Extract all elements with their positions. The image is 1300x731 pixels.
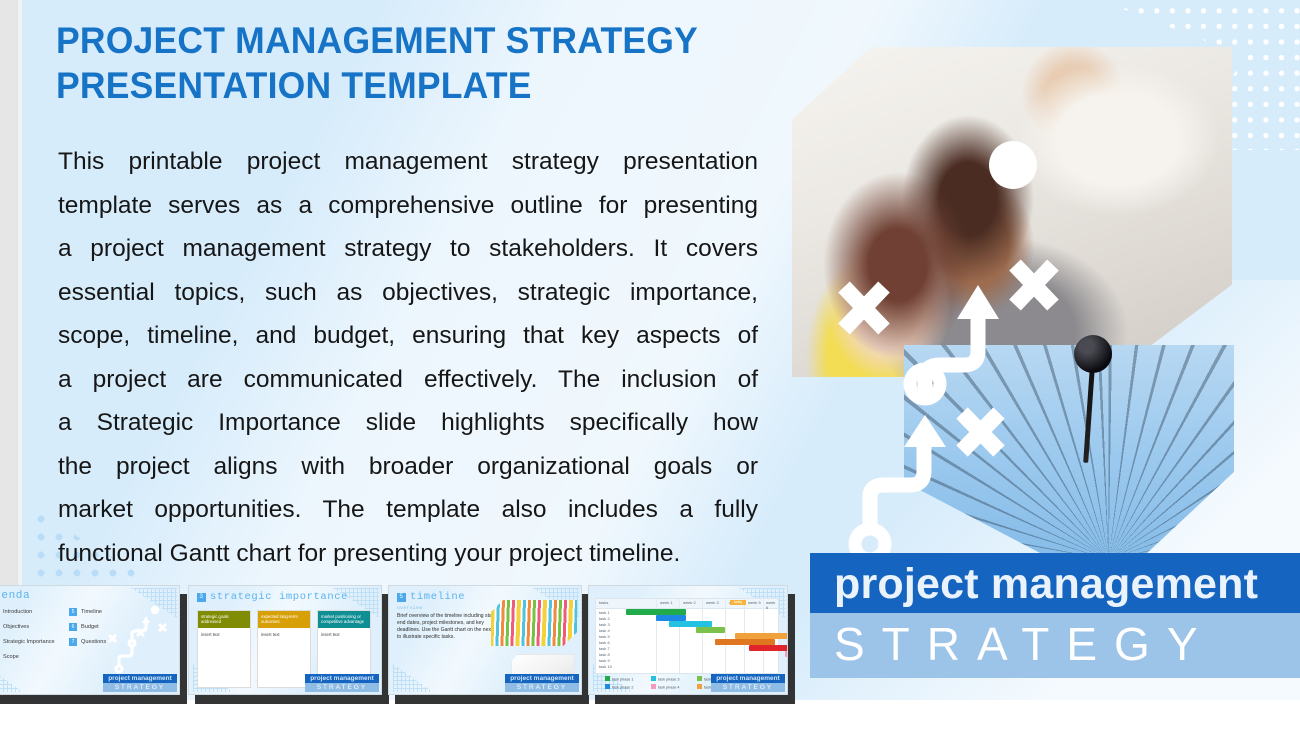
- page-title-line-1: PROJECT MANAGEMENT STRATEGY: [56, 18, 766, 63]
- thumb-title-row: 3strategic importance: [197, 591, 348, 603]
- thumb-logo-line-2: STRATEGY: [711, 683, 785, 692]
- gantt-column-week-3: week 3: [706, 600, 719, 605]
- thumb-logo-line-1: project management: [711, 674, 785, 683]
- legend-label: task phase 3: [658, 678, 680, 682]
- legend-swatch: [651, 676, 656, 681]
- gantt-row-label-8: task 8: [599, 652, 610, 657]
- gantt-gridline: [725, 599, 726, 673]
- strategy-path-overlay-icon: [792, 47, 1232, 587]
- description-paragraph: This printable project management strate…: [58, 140, 758, 575]
- sticky-notes-photo: [491, 600, 577, 646]
- thumb-title: strategic importance: [210, 591, 348, 603]
- legend-swatch: [651, 684, 656, 689]
- agenda-num-7: 7: [69, 638, 77, 646]
- thumb-logo-line-2: STRATEGY: [305, 683, 379, 692]
- thumbnail-gantt-chart[interactable]: tasks week 1 week 2 week 3 week 4 week 5…: [588, 585, 788, 695]
- gantt-chart: tasks week 1 week 2 week 3 week 4 week 5…: [595, 598, 779, 674]
- gantt-today-label: today: [730, 600, 746, 605]
- gantt-legend-1: task phase 1: [605, 676, 634, 682]
- agenda-num-6: 6: [69, 623, 77, 631]
- si-card-2-heading: expected long-term outcomes: [258, 611, 310, 625]
- agenda-label-1: Introduction: [3, 609, 32, 615]
- thumb-logo-line-1: project management: [305, 674, 379, 683]
- agenda-label-7: Questions: [81, 639, 106, 645]
- description-line: the project aligns with broader organiza…: [58, 445, 758, 489]
- gantt-column-week-6: week 6: [766, 600, 778, 610]
- page-title-line-2: PRESENTATION TEMPLATE: [56, 63, 766, 108]
- si-card-3-header: market positioning or competitive advant…: [318, 611, 370, 628]
- gantt-column-week-5: week 5: [748, 600, 761, 605]
- description-line: This printable project management strate…: [58, 140, 758, 184]
- legend-swatch: [697, 676, 702, 681]
- thumb-logo-line-1: project management: [103, 674, 177, 683]
- thumbnail-strategic-importance[interactable]: 3strategic importance strategic goals ad…: [188, 585, 382, 695]
- si-card-3-body: insert text: [321, 632, 340, 637]
- gantt-row-label-4: task 4: [599, 628, 610, 633]
- thumb-title-row: 5timeline: [397, 591, 465, 603]
- gantt-bar-7: [749, 645, 788, 651]
- legend-label: task phase 4: [658, 686, 680, 690]
- thumb-logo-gantt: project management STRATEGY: [711, 674, 785, 692]
- legend-swatch: [605, 676, 610, 681]
- timeline-body-text: Brief overview of the timeline including…: [397, 613, 505, 641]
- description-line: a project management strategy to stakeho…: [58, 227, 758, 271]
- agenda-label-2: Objectives: [3, 624, 29, 630]
- gantt-bar-8: [785, 651, 788, 657]
- gantt-row-label-5: task 5: [599, 634, 610, 639]
- gantt-column-tasks: tasks: [599, 600, 608, 605]
- gantt-row-label-9: task 9: [599, 658, 610, 663]
- description-line: a project are communicated effectively. …: [58, 358, 758, 402]
- agenda-label-4: Scope: [3, 654, 19, 660]
- legend-label: task phase 1: [612, 678, 634, 682]
- timeline-subtitle: overview: [397, 606, 422, 611]
- gantt-row-label-7: task 7: [599, 646, 610, 651]
- si-card-1-body: insert text: [201, 632, 220, 637]
- thumbnail-timeline[interactable]: 5timeline overview Brief overview of the…: [388, 585, 582, 695]
- slide-thumbnail-strip: agenda 1 Introduction 2 Objectives 3 Str…: [0, 585, 1278, 715]
- gantt-column-week-1: week 1: [660, 600, 673, 605]
- gantt-legend-6: task phase 4: [651, 684, 680, 690]
- thumb-logo-line-2: STRATEGY: [505, 683, 579, 692]
- description-line: template serves as a comprehensive outli…: [58, 184, 758, 228]
- legend-swatch: [697, 684, 702, 689]
- si-card-2-header: expected long-term outcomes: [258, 611, 310, 628]
- thumb-logo-timeline: project management STRATEGY: [505, 674, 579, 692]
- gantt-legend-2: task phase 3: [651, 676, 680, 682]
- agenda-label-5: Timeline: [81, 609, 102, 615]
- thumb-logo-strategic: project management STRATEGY: [305, 674, 379, 692]
- si-card-1-heading: strategic goals addressed: [198, 611, 250, 625]
- thumb-logo-agenda: project management STRATEGY: [103, 674, 177, 692]
- si-card-3-heading: market positioning or competitive advant…: [318, 611, 370, 625]
- gantt-row-label-1: task 1: [599, 610, 610, 615]
- thumb-title: agenda: [0, 590, 30, 602]
- page-title: PROJECT MANAGEMENT STRATEGY PRESENTATION…: [56, 18, 766, 108]
- agenda-strategy-path-icon: [107, 602, 173, 674]
- description-line: a Strategic Importance slide highlights …: [58, 401, 758, 445]
- gantt-row-label-2: task 2: [599, 616, 610, 621]
- thumb-title: timeline: [410, 591, 465, 603]
- si-card-1: strategic goals addressed insert text: [197, 610, 251, 688]
- gantt-row-label-6: task 6: [599, 640, 610, 645]
- thumb-slide-number: 3: [197, 593, 206, 602]
- si-card-2: expected long-term outcomes insert text: [257, 610, 311, 688]
- description-line: scope, timeline, and budget, ensuring th…: [58, 314, 758, 358]
- gantt-gridline: [702, 599, 703, 673]
- gantt-column-week-2: week 2: [683, 600, 696, 605]
- legend-swatch: [605, 684, 610, 689]
- hero-image-collage: [792, 47, 1232, 587]
- description-line: essential topics, such as objectives, st…: [58, 271, 758, 315]
- gantt-bar-4: [696, 627, 726, 633]
- gantt-legend-5: task phase 2: [605, 684, 634, 690]
- thumb-logo-line-1: project management: [505, 674, 579, 683]
- gantt-row-label-3: task 3: [599, 622, 610, 627]
- description-line: functional Gantt chart for presenting yo…: [58, 532, 758, 576]
- slide-preview-canvas: PROJECT MANAGEMENT STRATEGY PRESENTATION…: [0, 0, 1300, 731]
- agenda-num-5: 5: [69, 608, 77, 616]
- agenda-label-3: Strategic Importance: [3, 639, 55, 645]
- gantt-row-label-10: task 10: [599, 664, 612, 669]
- description-line: market opportunities. The template also …: [58, 488, 758, 532]
- legend-label: task phase 2: [612, 686, 634, 690]
- agenda-label-6: Budget: [81, 624, 99, 630]
- si-card-1-header: strategic goals addressed: [198, 611, 250, 628]
- thumbnail-agenda[interactable]: agenda 1 Introduction 2 Objectives 3 Str…: [0, 585, 180, 695]
- si-card-2-body: insert text: [261, 632, 280, 637]
- thumb-slide-number: 5: [397, 593, 406, 602]
- thumb-logo-line-2: STRATEGY: [103, 683, 177, 692]
